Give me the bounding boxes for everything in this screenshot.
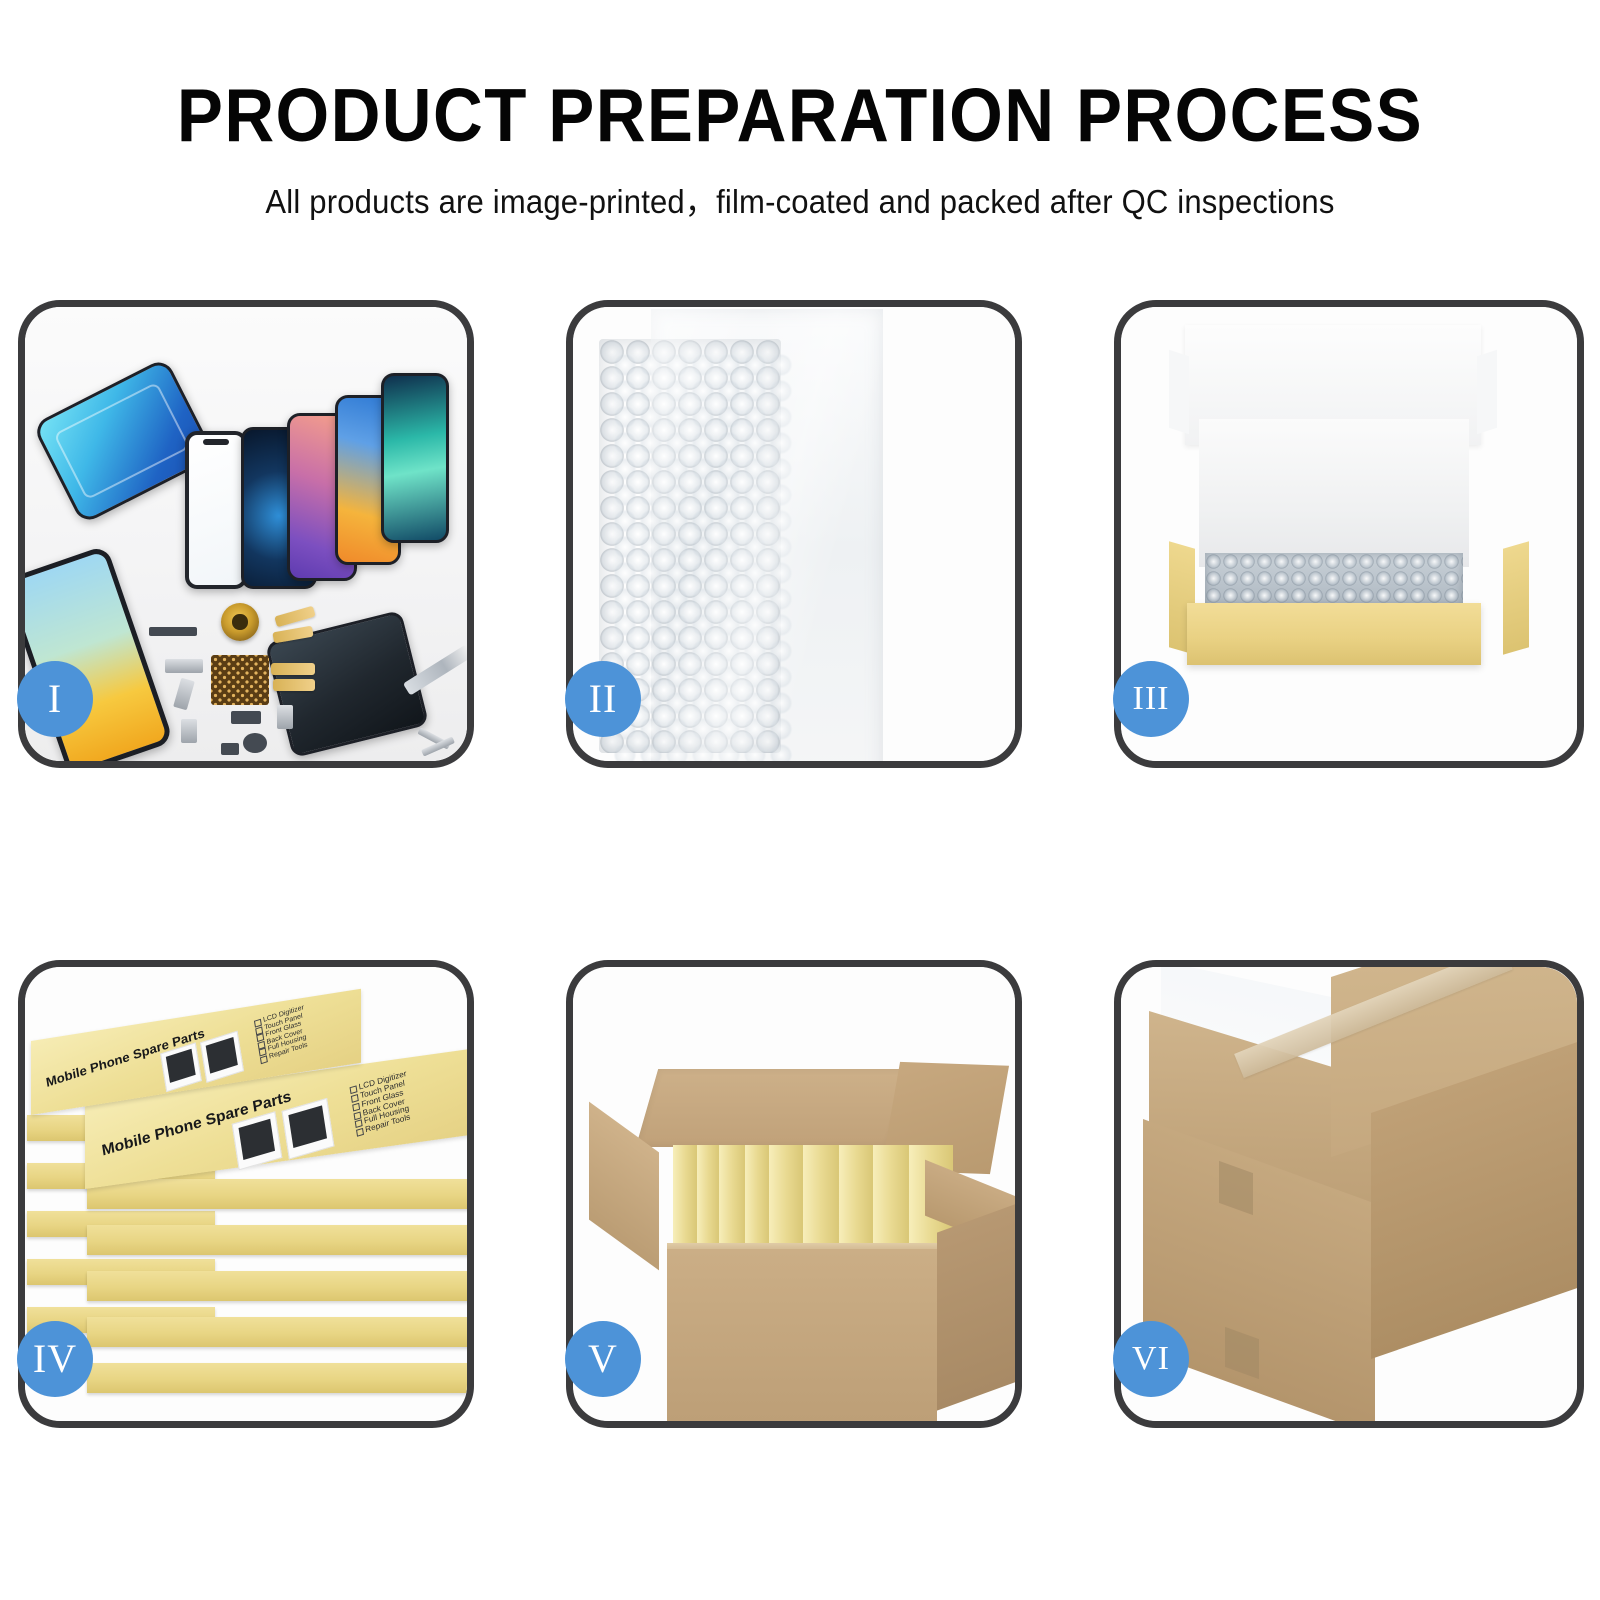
carton-back-flap [636,1069,910,1147]
ic-chip-array [211,655,269,705]
process-step-6: VI [1114,960,1584,1428]
retail-box-photo-front-2 [282,1098,335,1160]
mailer-box-interior [1199,419,1469,567]
retail-box-r-2 [87,1225,467,1255]
sim-tray [181,719,197,743]
flex-cable-4 [273,679,315,691]
phone-screen-teal [381,373,449,543]
retail-box-checklist-rear: LCD Digitizer Touch Panel Front Glass Ba… [254,1004,311,1063]
retail-box-r-1 [87,1179,467,1209]
step-3-image [1121,307,1577,761]
process-step-1: I [18,300,474,768]
earpiece-speaker [149,627,197,636]
step-badge-1: I [17,661,93,737]
carton-side-face [937,1201,1015,1410]
bubble-wrapped-product [1205,553,1463,607]
retail-box-r-4 [87,1317,467,1347]
retail-box-checklist-front: LCD Digitizer Touch Panel Front Glass Ba… [349,1070,413,1138]
loudspeaker-module [243,733,267,753]
step-badge-6: VI [1113,1321,1189,1397]
step-badge-4: IV [17,1321,93,1397]
plastic-sheen [651,307,883,761]
retail-box-photo-rear-2 [200,1031,244,1083]
flex-cable-3 [271,663,315,675]
mailer-box-front [1187,603,1481,665]
step-badge-5: V [565,1321,641,1397]
retail-box-r-5 [87,1363,467,1393]
wireless-charging-coil [221,603,259,641]
small-connector [221,743,239,755]
camera-module [277,705,293,729]
process-step-3: III [1114,300,1584,768]
step-badge-3: III [1113,661,1189,737]
vibration-motor [231,711,261,724]
retail-box-r-3 [87,1271,467,1301]
step-badge-2: II [565,661,641,737]
mailer-box-right-flap [1503,541,1529,654]
process-step-5: V [566,960,1022,1428]
process-step-4: Mobile Phone Spare Parts LCD Digitizer T… [18,960,474,1428]
front-glass-clear [185,431,247,589]
process-step-2: II [566,300,1022,768]
carton-contents-gold-boxes [673,1145,953,1255]
metal-bracket-1 [165,659,203,673]
carton-front-face [667,1249,937,1421]
step-6-image [1121,967,1577,1421]
process-step-grid: I II III [0,0,1600,1600]
